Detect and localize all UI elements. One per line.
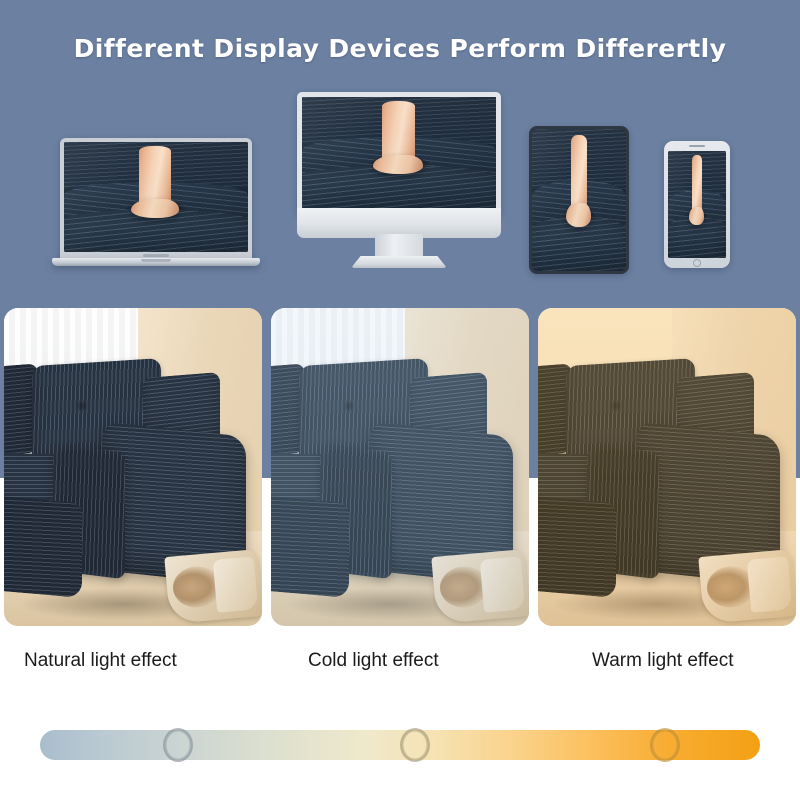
magazine-on-floor <box>164 549 262 624</box>
panel-warm-light <box>538 308 796 626</box>
label-cold-light: Cold light effect <box>266 650 532 672</box>
photo-shading <box>668 151 726 258</box>
phone-screen <box>668 151 726 258</box>
monitor-screen <box>302 97 496 208</box>
label-warm-light: Warm light effect <box>532 650 798 672</box>
magazine-on-floor <box>698 549 796 624</box>
sofa-base-block <box>538 495 615 599</box>
device-monitor <box>297 92 501 274</box>
phone-home-button[interactable] <box>693 259 701 267</box>
laptop-screen <box>64 142 248 252</box>
color-temperature-slider[interactable] <box>40 730 760 760</box>
photo-shading <box>64 142 248 252</box>
screen-photo-foot-on-sofa <box>302 97 496 208</box>
light-effect-labels: Natural light effect Cold light effect W… <box>0 650 800 672</box>
laptop-lid <box>60 138 252 259</box>
photo-shading <box>302 97 496 208</box>
slider-handle-natural[interactable] <box>163 728 193 762</box>
screen-photo-foot-on-sofa <box>532 129 626 271</box>
device-tablet <box>529 126 629 274</box>
light-effect-panels <box>0 308 800 626</box>
screen-photo-foot-on-sofa <box>64 142 248 252</box>
photo-shading <box>532 129 626 271</box>
magazine-on-floor <box>431 549 529 624</box>
panel-natural-light <box>4 308 262 626</box>
laptop-hinge-dot <box>143 254 169 257</box>
tablet-screen <box>532 129 626 271</box>
product-infographic: Different Display Devices Perform Differ… <box>0 0 800 800</box>
monitor-stand-base <box>351 256 447 268</box>
device-phone <box>664 141 730 268</box>
monitor-bezel <box>297 92 501 214</box>
slider-handle-cold[interactable] <box>400 728 430 762</box>
laptop-notch <box>141 259 171 262</box>
panel-cold-light <box>271 308 529 626</box>
device-laptop <box>52 138 260 273</box>
slider-handle-warm[interactable] <box>650 728 680 762</box>
page-title: Different Display Devices Perform Differ… <box>0 34 800 63</box>
sofa-base-block <box>271 495 348 599</box>
sofa-base-block <box>4 495 81 599</box>
phone-speaker <box>689 145 705 147</box>
label-natural-light: Natural light effect <box>0 650 266 672</box>
screen-photo-foot-on-sofa <box>668 151 726 258</box>
